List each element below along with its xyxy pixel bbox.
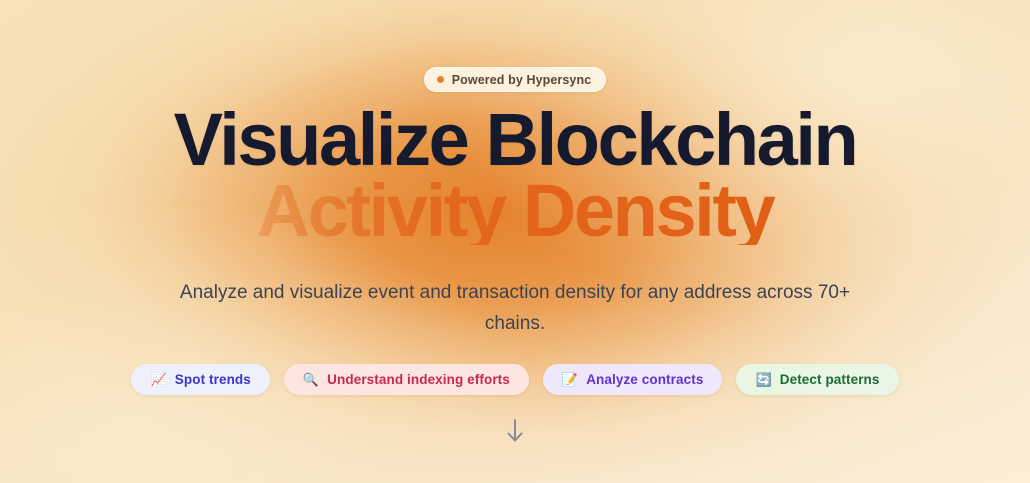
refresh-sync-icon: 🔄 [755,373,771,386]
hero-subtitle: Analyze and visualize event and transact… [165,277,865,339]
headline-line-1: Visualize Blockchain [174,106,857,174]
headline-line-2: Activity Density [174,177,857,245]
pill-analyze-contracts[interactable]: 📝 Analyze contracts [543,364,723,395]
page-title: Visualize Blockchain Activity Density [174,92,857,245]
pill-spot-trends[interactable]: 📈 Spot trends [131,364,269,395]
pill-understand-indexing-efforts-label: Understand indexing efforts [327,372,510,387]
powered-by-badge-label: Powered by Hypersync [452,73,592,87]
pill-detect-patterns[interactable]: 🔄 Detect patterns [736,364,898,395]
pill-understand-indexing-efforts[interactable]: 🔍 Understand indexing efforts [284,364,529,395]
pill-analyze-contracts-label: Analyze contracts [586,372,703,387]
hero-content: Powered by Hypersync Visualize Blockchai… [0,0,1030,483]
powered-by-badge: Powered by Hypersync [424,67,607,92]
chart-increasing-icon: 📈 [150,373,166,386]
feature-pill-row: 📈 Spot trends 🔍 Understand indexing effo… [131,364,898,395]
arrow-down-icon [505,418,525,444]
scroll-down-button[interactable] [502,416,528,446]
hero-section: Powered by Hypersync Visualize Blockchai… [0,0,1030,483]
pill-spot-trends-label: Spot trends [175,372,251,387]
pill-detect-patterns-label: Detect patterns [780,372,880,387]
orange-dot-icon [437,76,444,83]
magnifying-glass-icon: 🔍 [303,373,319,386]
memo-pencil-icon: 📝 [562,373,578,386]
